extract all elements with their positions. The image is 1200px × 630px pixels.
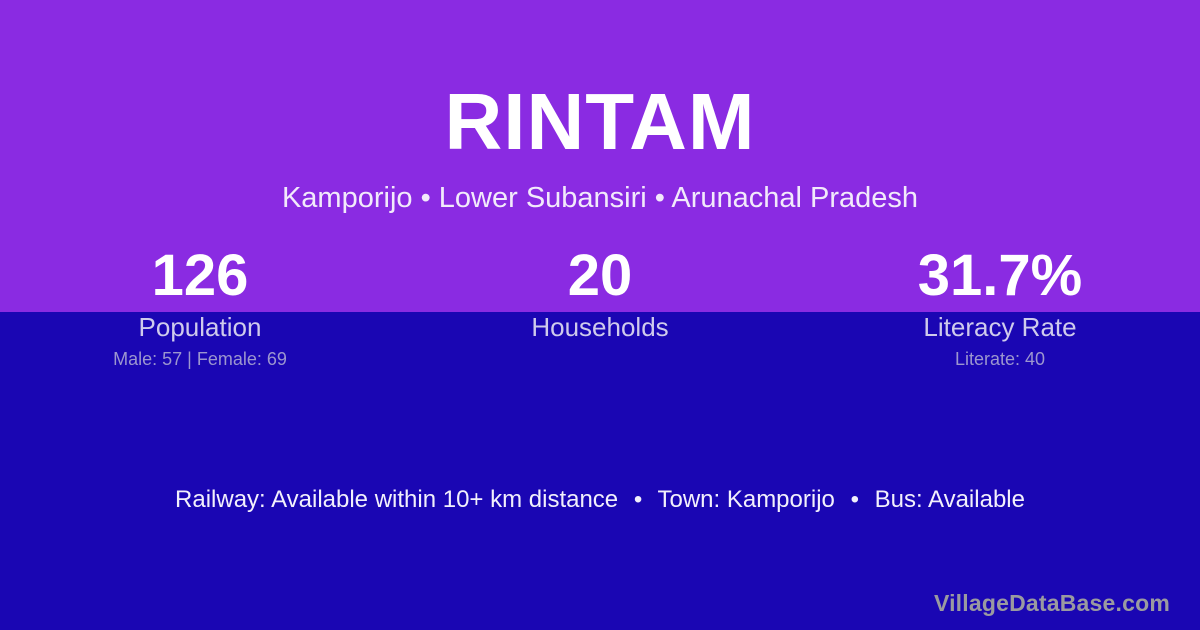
stat-literacy-rate: 31.7% Literacy Rate Literate: 40 [800, 246, 1200, 370]
infra-separator-1: • [625, 486, 651, 513]
infra-railway: Railway: Available within 10+ km distanc… [175, 486, 618, 513]
infra-bus: Bus: Available [875, 486, 1025, 513]
infra-separator-2: • [842, 486, 868, 513]
stat-households-label: Households [400, 312, 800, 342]
stat-households-value: 20 [400, 246, 800, 306]
village-info-card: RINTAM Kamporijo • Lower Subansiri • Aru… [0, 0, 1200, 630]
stat-households: 20 Households [400, 246, 800, 370]
statistics-row: 126 Population Male: 57 | Female: 69 20 … [0, 246, 1200, 370]
stat-population: 126 Population Male: 57 | Female: 69 [0, 246, 400, 370]
stat-population-breakdown: Male: 57 | Female: 69 [0, 348, 400, 370]
stat-literacy-rate-breakdown: Literate: 40 [800, 348, 1200, 370]
stat-population-value: 126 [0, 246, 400, 306]
site-branding: VillageDataBase.com [934, 589, 1170, 617]
page-title: RINTAM [0, 82, 1200, 162]
infra-town: Town: Kamporijo [657, 486, 834, 513]
stat-literacy-rate-label: Literacy Rate [800, 312, 1200, 342]
stat-population-label: Population [0, 312, 400, 342]
location-breadcrumb: Kamporijo • Lower Subansiri • Arunachal … [0, 181, 1200, 216]
infrastructure-summary: Railway: Available within 10+ km distanc… [0, 485, 1200, 515]
stat-literacy-rate-value: 31.7% [800, 246, 1200, 306]
